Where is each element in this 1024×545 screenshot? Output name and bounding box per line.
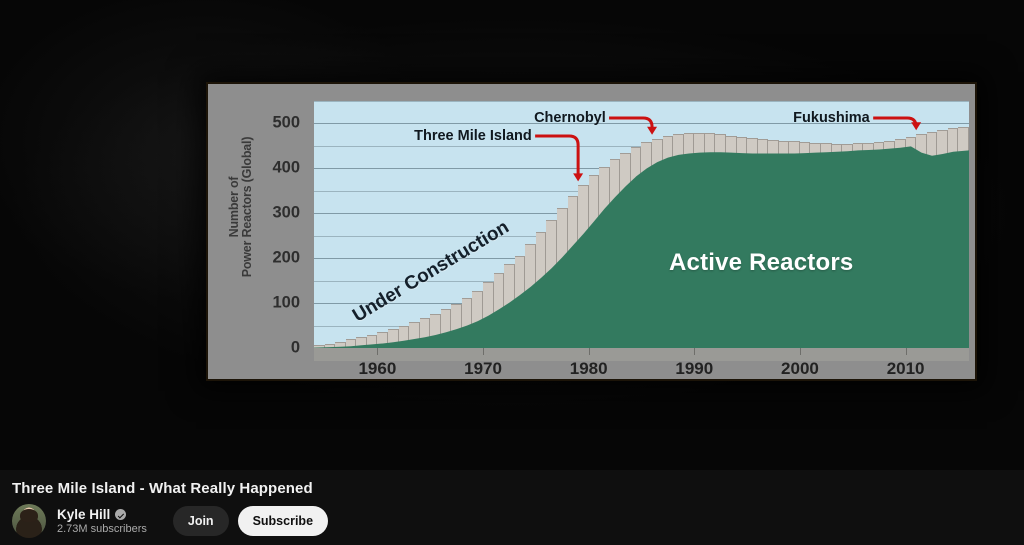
subscribe-button[interactable]: Subscribe [238,506,328,536]
plot-area: Under Construction Active Reactors Three… [314,101,969,348]
annotation-label: Chernobyl [534,110,606,126]
x-tick-label: 1960 [358,359,396,379]
page-title: Three Mile Island - What Really Happened [12,480,313,497]
y-tick-label: 100 [248,294,300,313]
channel-name-row[interactable]: Kyle Hill [57,507,147,522]
annotation-label: Fukushima [793,110,870,126]
y-tick-label: 200 [248,249,300,268]
y-tick-label: 300 [248,204,300,223]
x-tick-label: 2000 [781,359,819,379]
verified-badge-icon [115,509,126,520]
active-reactors-label: Active Reactors [669,249,853,277]
y-axis-ticks: 0100200300400500 [248,84,300,383]
channel-row: Kyle Hill 2.73M subscribers Join Subscri… [12,504,328,538]
x-tick-mark [906,348,907,355]
annotation: Fukushima [793,109,870,127]
x-tick-mark [483,348,484,355]
infographic-chart: Number of Power Reactors (Global) 010020… [206,82,977,381]
subscriber-count: 2.73M subscribers [57,523,147,535]
area-series-active-reactors [314,101,969,348]
channel-name: Kyle Hill [57,507,110,522]
y-tick-label: 500 [248,114,300,133]
annotation: Chernobyl [534,109,606,127]
annotation: Three Mile Island [414,127,532,145]
x-tick-mark [694,348,695,355]
y-axis-label-line1: Number of [228,177,242,238]
x-tick-mark [589,348,590,355]
x-tick-mark [800,348,801,355]
video-player[interactable]: Number of Power Reactors (Global) 010020… [0,0,1024,470]
y-tick-label: 0 [248,339,300,358]
screen: Number of Power Reactors (Global) 010020… [0,0,1024,545]
active-area-shape [314,146,969,348]
annotation-label: Three Mile Island [414,128,532,144]
y-tick-label: 400 [248,159,300,178]
video-meta-bar: Three Mile Island - What Really Happened… [0,470,1024,545]
x-tick-label: 2010 [887,359,925,379]
x-tick-label: 1970 [464,359,502,379]
x-tick-label: 1990 [675,359,713,379]
x-tick-label: 1980 [570,359,608,379]
x-axis-ticks: 196019701980199020002010 [314,359,969,383]
avatar[interactable] [12,504,46,538]
join-button[interactable]: Join [173,506,229,536]
x-tick-mark [377,348,378,355]
